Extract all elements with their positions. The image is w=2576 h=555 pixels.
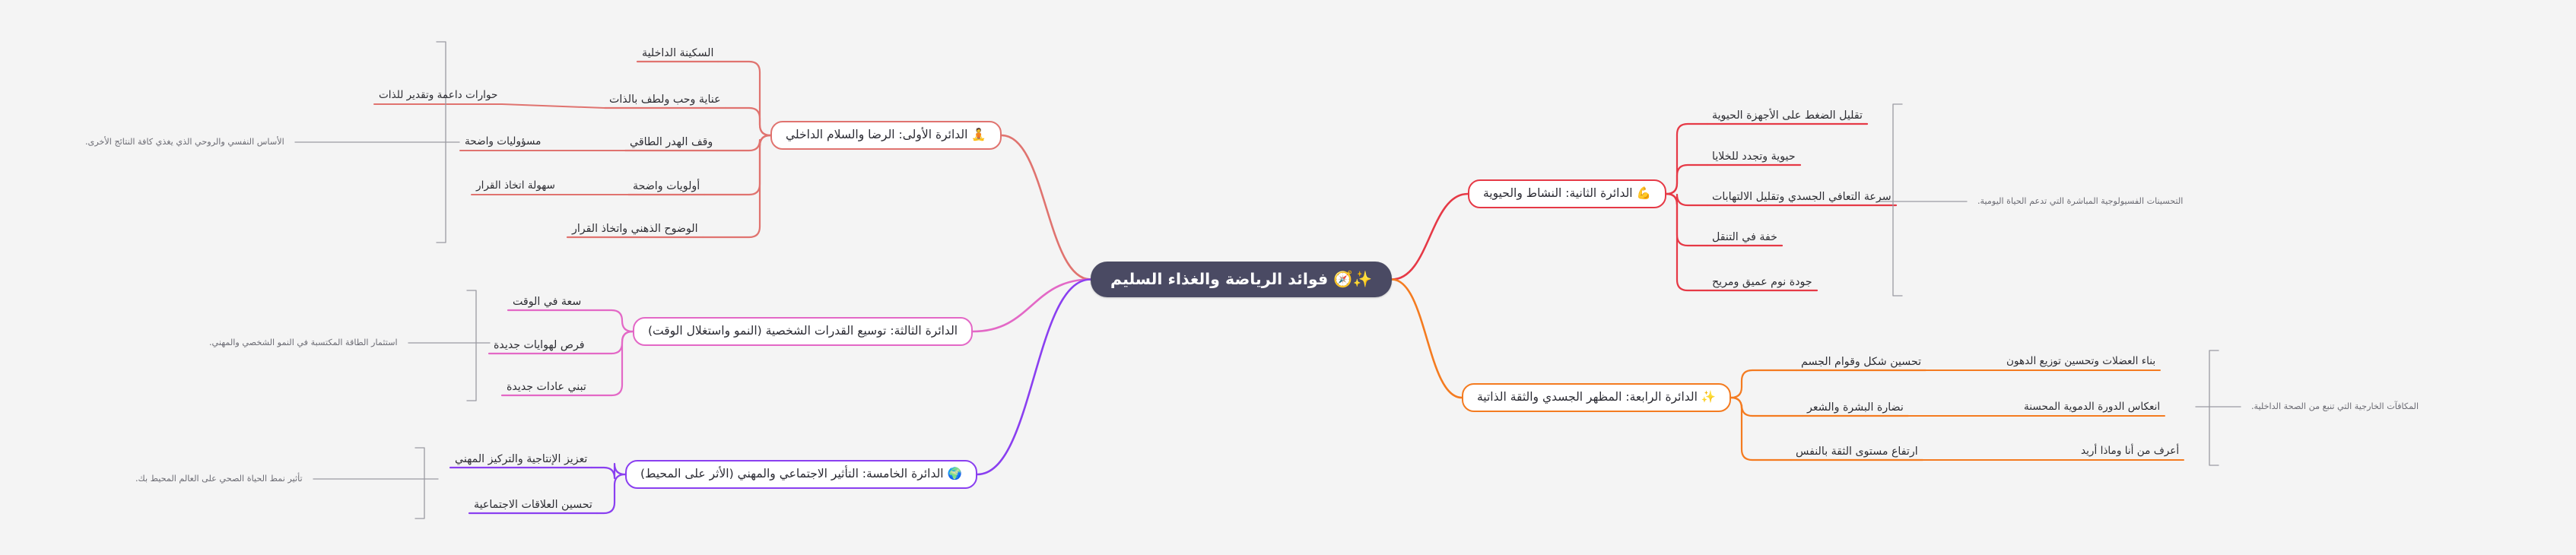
branch-node-2[interactable]: 💪 الدائرة الثانية: النشاط والحيوية	[1468, 179, 1666, 208]
sub-leaf-4-0-0[interactable]: بناء العضلات وتحسين توزيع الدهون	[2002, 355, 2160, 371]
leaf-2-0[interactable]: تقليل الضغط على الأجهزة الحيوية	[1707, 109, 1867, 125]
mindmap-canvas: ✨🧭 فوائد الرياضة والغذاء السليم 🧘 الدائر…	[0, 0, 2576, 555]
leaf-1-0[interactable]: السكينة الداخلية	[637, 46, 718, 62]
sub-leaf-4-2-0[interactable]: أعرف من أنا وماذا أريد	[2076, 445, 2184, 461]
leaf-2-3[interactable]: خفة في التنقل	[1707, 230, 1782, 246]
leaf-5-1[interactable]: تحسين العلاقات الاجتماعية	[469, 498, 597, 514]
sub-leaf-1-3-0[interactable]: سهولة اتخاذ القرار	[472, 179, 560, 195]
leaf-2-2[interactable]: سرعة التعافي الجسدي وتقليل الالتهابات	[1707, 190, 1896, 206]
leaf-2-1[interactable]: حيوية وتجدد للخلايا	[1707, 150, 1800, 166]
branch-node-1[interactable]: 🧘 الدائرة الأولى: الرضا والسلام الداخلي	[770, 121, 1002, 150]
leaf-1-1[interactable]: عناية وحب ولطف بالذات	[605, 93, 726, 109]
leaf-1-4[interactable]: الوضوح الذهني واتخاذ القرار	[567, 222, 703, 238]
leaf-2-4[interactable]: جودة نوم عميق ومريح	[1707, 275, 1817, 291]
branch-node-4[interactable]: ✨ الدائرة الرابعة: المظهر الجسدي والثقة …	[1462, 383, 1731, 412]
branch-node-3[interactable]: الدائرة الثالثة: توسيع القدرات الشخصية (…	[633, 317, 973, 346]
branch-note-3: استثمار الطاقة المكتسبة في النمو الشخصي …	[209, 338, 398, 348]
leaf-3-0[interactable]: سعة في الوقت	[508, 295, 586, 311]
branch-note-5: تأثير نمط الحياة الصحي على العالم المحيط…	[135, 474, 303, 484]
branch-node-5[interactable]: 🌍 الدائرة الخامسة: التأثير الاجتماعي وال…	[625, 460, 977, 489]
central-topic[interactable]: ✨🧭 فوائد الرياضة والغذاء السليم	[1091, 262, 1392, 297]
branch-note-1: الأساس النفسي والروحي الذي يغذي كافة الن…	[85, 137, 284, 147]
leaf-4-1[interactable]: نضارة البشرة والشعر	[1803, 401, 1908, 417]
leaf-3-2[interactable]: تبني عادات جديدة	[502, 380, 591, 396]
leaf-3-1[interactable]: فرص لهوايات جديدة	[489, 338, 589, 354]
branch-note-4: المكافآت الخارجية التي تنبع من الصحة الد…	[2251, 401, 2419, 412]
sub-leaf-1-2-0[interactable]: مسؤوليات واضحة	[460, 135, 545, 151]
branch-note-2: التحسينات الفسيولوجية المباشرة التي تدعم…	[1977, 196, 2183, 207]
leaf-1-3[interactable]: أولويات واضحة	[628, 179, 704, 195]
sub-leaf-1-1-0[interactable]: حوارات داعمة وتقدير للذات	[374, 89, 502, 105]
leaf-5-0[interactable]: تعزيز الإنتاجية والتركيز المهني	[450, 452, 592, 468]
leaf-1-2[interactable]: وقف الهدر الطاقي	[625, 135, 717, 151]
leaf-4-0[interactable]: تحسين شكل وقوام الجسم	[1796, 355, 1926, 371]
leaf-4-2[interactable]: ارتفاع مستوى الثقة بالنفس	[1791, 445, 1923, 461]
sub-leaf-4-1-0[interactable]: انعكاس الدورة الدموية المحسنة	[2019, 401, 2165, 417]
